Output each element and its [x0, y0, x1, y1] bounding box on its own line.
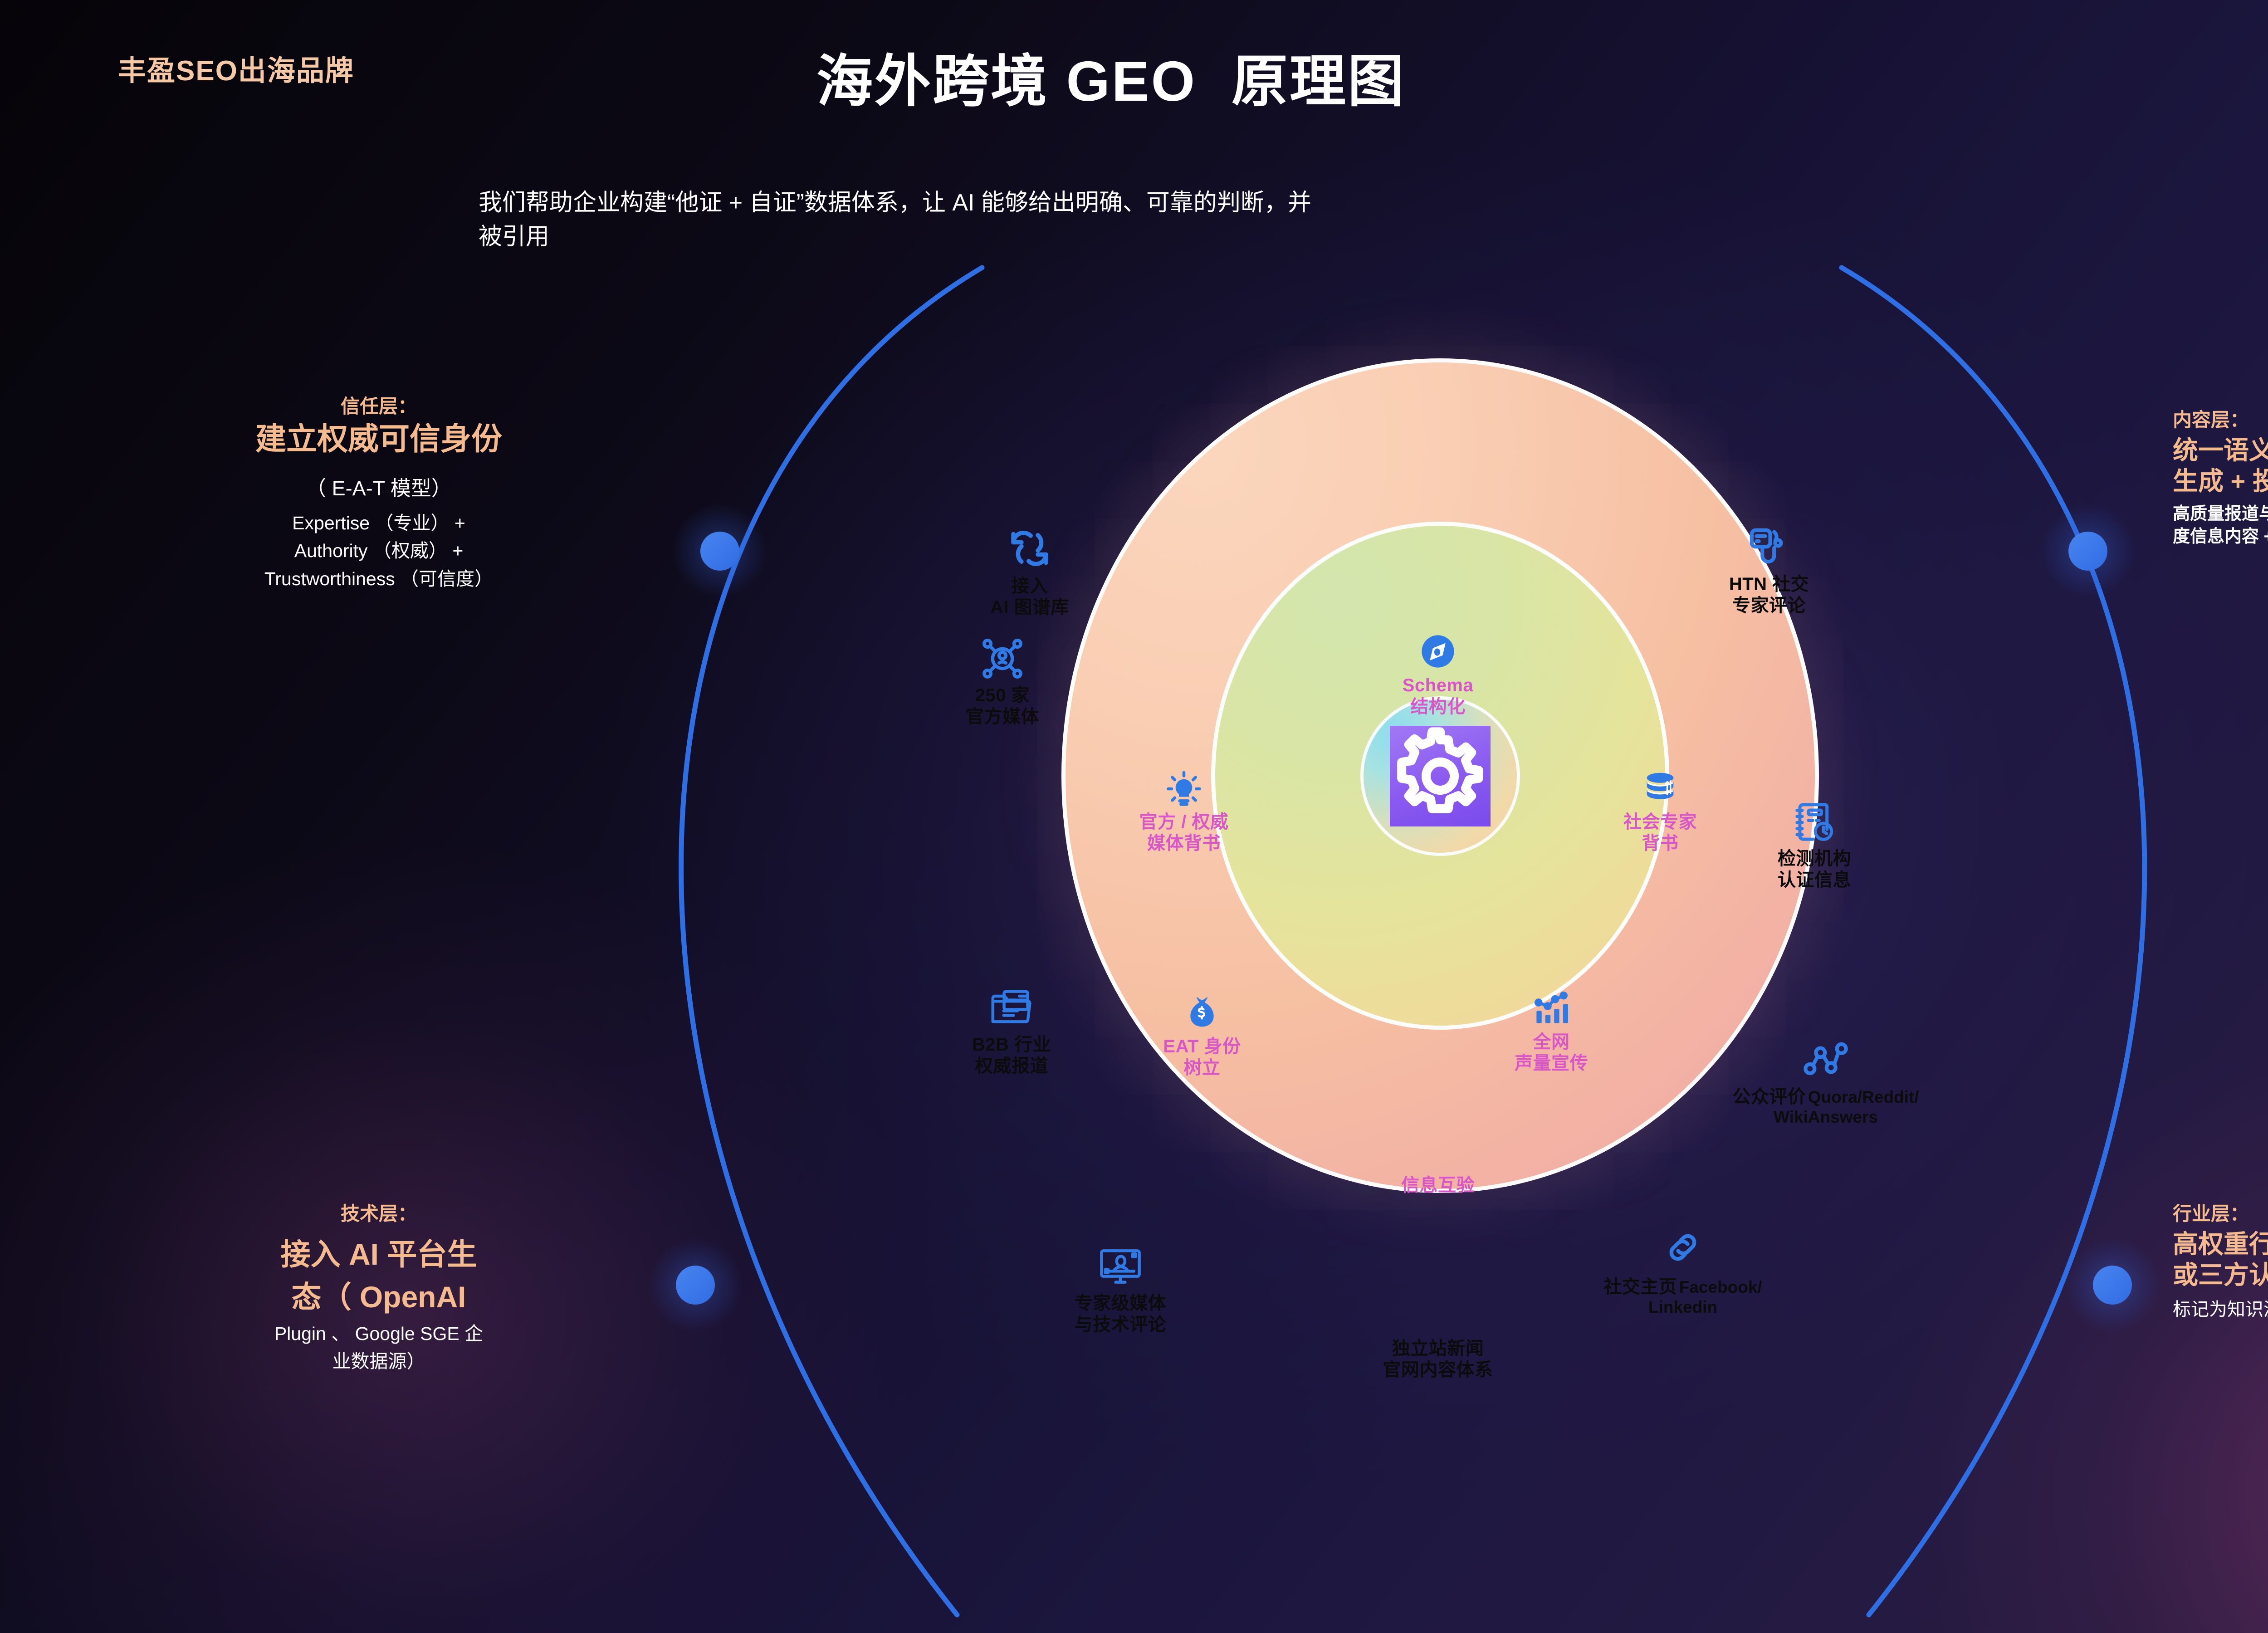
node-label: HTN 社交 专家评论: [1729, 574, 1809, 616]
infographic-canvas: 丰盈SEO出海品牌 海外跨境 GEO 原理图 AI时代全球曝光 我们帮助企业构建…: [0, 0, 2268, 1633]
industry-body: 标记为知识源、强化专业地位: [2173, 1298, 2268, 1321]
node-label: 250 家 官方媒体: [966, 685, 1039, 727]
content-heading: 统一语义 + 持续内容 生成 + 投喂: [2173, 435, 2268, 497]
page-title: 海外跨境 GEO 原理图: [816, 35, 1406, 117]
node-250-official-media: 250 家 官方媒体: [912, 635, 1093, 728]
industry-kicker: 行业层：: [2173, 1202, 2268, 1226]
node-owned-site-news: 独立站新闻 官网内容体系: [1329, 1338, 1547, 1381]
node-label: 官方 / 权威 媒体背书: [1139, 812, 1229, 853]
social-share-icon: [1678, 524, 1860, 571]
orbit-dot-top-left: [700, 532, 739, 571]
side-block-content: 内容层： 统一语义 + 持续内容 生成 + 投喂 高质量报道与评测，持续高密 度…: [2173, 408, 2268, 548]
bar-chart-icon: [1470, 989, 1633, 1029]
industry-heading: 高权重行业数据库 或三方认证: [2173, 1229, 2268, 1291]
side-block-industry: 行业层： 高权重行业数据库 或三方认证 标记为知识源、强化专业地位: [2173, 1202, 2268, 1321]
node-public-review: 公众评价 Quora/Reddit/ WikiAnswers: [1719, 1037, 1932, 1127]
node-label: 公众评价: [1732, 1087, 1806, 1107]
trust-heading: 建立权威可信身份: [82, 420, 676, 458]
node-cross-verification: 信息互验: [1343, 1175, 1533, 1196]
folder-doc-icon: [921, 984, 1102, 1032]
node-label: 社交主页: [1603, 1277, 1677, 1297]
orbit-dot-bottom-left: [676, 1266, 715, 1305]
notebook-clock-icon: [1724, 798, 1905, 846]
node-label: 检测机构 认证信息: [1778, 849, 1851, 890]
trust-kicker: 信任层：: [82, 395, 676, 419]
money-bag-icon: [1120, 993, 1284, 1033]
content-kicker: 内容层：: [2173, 408, 2268, 432]
node-label: 全网 声量宣传: [1515, 1032, 1588, 1073]
user-network-icon: [912, 635, 1093, 682]
side-block-trust: 信任层： 建立权威可信身份 （ E-A-T 模型） Expertise （专业）…: [82, 395, 676, 593]
database-icon: [1579, 769, 1742, 809]
orbit-dot-top-right: [2068, 532, 2107, 571]
node-ai-graph-db: 接入 AI 图谱库: [934, 524, 1125, 618]
node-htn-social-expert: HTN 社交 专家评论: [1678, 524, 1860, 616]
node-expert-media-review: 专家级媒体 与技术评论: [1025, 1243, 1216, 1335]
trust-model-label: （ E-A-T 模型）: [82, 473, 676, 504]
node-label: 信息互验: [1401, 1175, 1475, 1195]
tech-lines: Plugin 、 Google SGE 企 业数据源）: [82, 1320, 676, 1376]
node-label: EAT 身份 树立: [1163, 1037, 1241, 1078]
node-label: 接入 AI 图谱库: [990, 576, 1069, 617]
compass-icon: [1343, 631, 1533, 672]
node-graph-icon: [1719, 1037, 1932, 1084]
lightbulb-icon: [1093, 769, 1275, 809]
tech-heading-2: 态（ OpenAI: [82, 1279, 676, 1315]
node-social-expert-endorsement: 社会专家 背书: [1579, 769, 1742, 854]
node-label: 专家级媒体 与技术评论: [1075, 1293, 1167, 1335]
side-block-tech: 技术层： 接入 AI 平台生 态（ OpenAI Plugin 、 Google…: [82, 1202, 676, 1376]
node-label: Schema 结构化: [1403, 675, 1473, 717]
trust-eat-lines: Expertise （专业） + Authority （权威） + Trustw…: [82, 509, 676, 593]
chain-link-icon: [1601, 1225, 1765, 1270]
tech-heading: 接入 AI 平台生: [82, 1236, 676, 1273]
gear-icon: [1390, 726, 1491, 826]
tech-kicker: 技术层：: [82, 1202, 676, 1226]
sync-refresh-icon: [934, 524, 1125, 573]
page-subtitle: 我们帮助企业构建“他证 + 自证”数据体系，让 AI 能够给出明确、可靠的判断，…: [479, 186, 2268, 254]
node-label: 社会专家 背书: [1623, 812, 1697, 853]
node-social-homepage: 社交主页 Facebook/ Linkedin: [1601, 1225, 1765, 1317]
node-eat-identity: EAT 身份 树立: [1120, 993, 1284, 1079]
node-label: B2B 行业 权威报道: [972, 1035, 1051, 1076]
node-official-media-endorsement: 官方 / 权威 媒体背书: [1093, 769, 1275, 854]
content-body: 高质量报道与评测，持续高密 度信息内容 + 语义优化: [2173, 503, 2268, 548]
node-full-network-voice: 全网 声量宣传: [1470, 989, 1633, 1074]
node-b2b-report: B2B 行业 权威报道: [921, 984, 1102, 1077]
node-schema-structured: Schema 结构化: [1343, 631, 1533, 718]
monitor-person-icon: [1025, 1243, 1216, 1290]
node-label: 独立站新闻 官网内容体系: [1383, 1339, 1493, 1380]
node-certification-info: 检测机构 认证信息: [1724, 798, 1905, 891]
orbit-dot-bottom-right: [2093, 1266, 2132, 1305]
brand-label: 丰盈SEO出海品牌: [118, 48, 354, 88]
